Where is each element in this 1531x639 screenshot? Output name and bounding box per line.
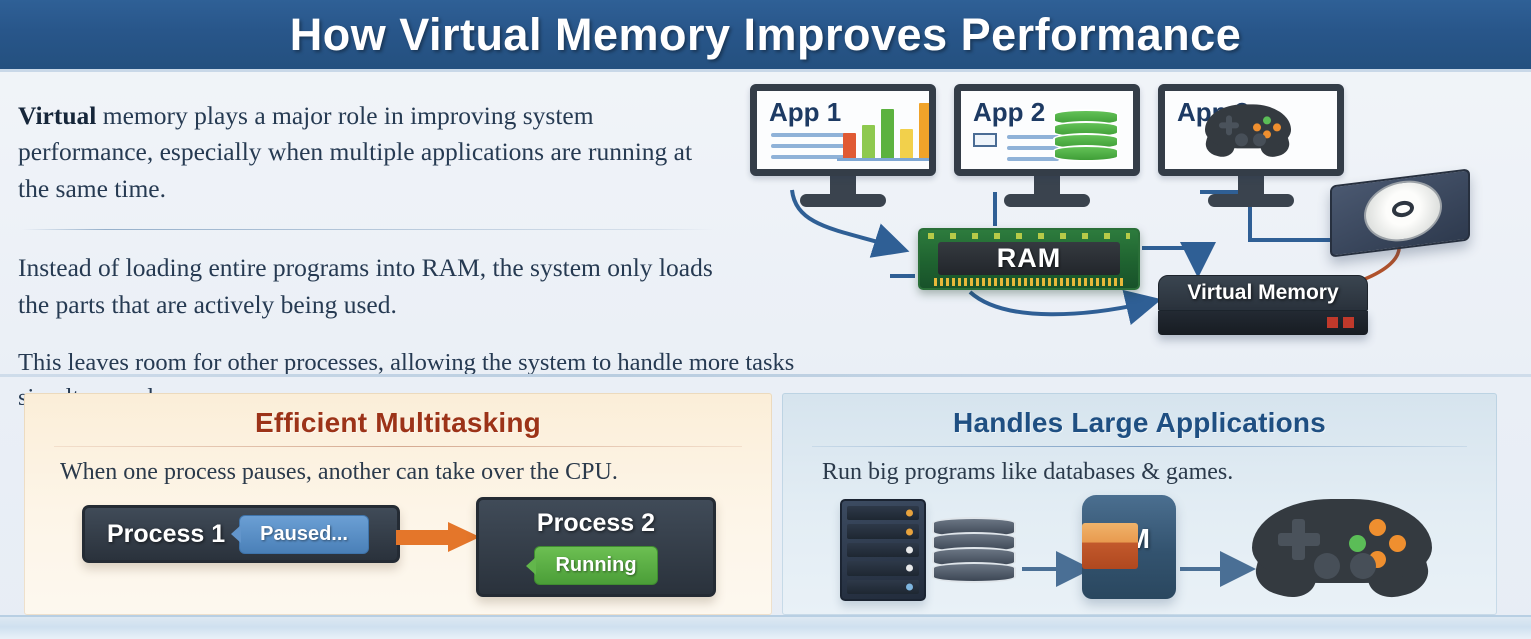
app-1-text-line <box>771 144 845 148</box>
app-1-monitor[interactable]: App 1 <box>750 84 936 207</box>
app-3-screen: App 3 <box>1158 84 1344 176</box>
monitor-stand-base <box>800 194 886 207</box>
infographic-page: How Virtual Memory Improves Performance … <box>0 0 1531 639</box>
monitor-stand-base <box>1208 194 1294 207</box>
benefit-cards: Efficient Multitasking When one process … <box>0 393 1531 615</box>
vm-container-icon[interactable]: VM <box>1082 495 1176 599</box>
document-icon-box <box>973 133 997 147</box>
ram-connector-pins <box>934 278 1124 286</box>
page-header: How Virtual Memory Improves Performance <box>0 0 1531 72</box>
intro-bold-word: Virtual <box>18 101 96 130</box>
process-2-status-badge: Running <box>534 546 657 585</box>
virtual-memory-body <box>1158 311 1368 335</box>
process-1-status-badge: Paused... <box>239 515 369 554</box>
server-rack-icon <box>840 499 926 601</box>
process-2-name: Process 2 <box>537 509 655 538</box>
process-1-name: Process 1 <box>107 520 225 549</box>
monitor-stand-neck <box>830 176 856 194</box>
cpu-handoff-arrow <box>396 524 488 550</box>
page-title: How Virtual Memory Improves Performance <box>290 9 1241 61</box>
card-handles-large-applications: Handles Large Applications Run big progr… <box>782 393 1497 615</box>
bar-chart-icon <box>843 93 936 159</box>
intro-paragraph-1-rest: memory plays a major role in improving s… <box>18 101 692 203</box>
process-1-box[interactable]: Process 1 Paused... <box>82 505 400 563</box>
app-3-monitor[interactable]: App 3 <box>1158 84 1344 207</box>
intro-paragraph-1: Virtual memory plays a major role in imp… <box>18 98 718 207</box>
ram-top-pins <box>928 233 1130 239</box>
ram-chip-bar: RAM <box>938 242 1120 275</box>
virtual-memory-lid: Virtual Memory <box>1158 275 1368 311</box>
app-2-screen: App 2 <box>954 84 1140 176</box>
intro-divider <box>22 229 714 230</box>
card-title-rule <box>812 446 1467 447</box>
monitor-stand-neck <box>1034 176 1060 194</box>
app-2-text-line <box>975 169 1075 173</box>
app-1-label: App 1 <box>769 97 841 128</box>
hard-disk-icon[interactable] <box>1330 165 1480 260</box>
process-flow: Process 1 Paused... Process 2 Running <box>24 497 772 609</box>
app-1-text-line <box>771 155 845 159</box>
status-led <box>1343 317 1354 328</box>
document-icon <box>973 133 999 163</box>
section-divider <box>0 374 1531 377</box>
card-subtitle-handles-large-applications: Run big programs like databases & games. <box>822 459 1497 486</box>
status-led <box>1327 317 1338 328</box>
database-icon <box>1053 109 1119 162</box>
gamepad-icon <box>1205 105 1291 149</box>
app-2-label: App 2 <box>973 97 1045 128</box>
process-2-box[interactable]: Process 2 Running <box>476 497 716 597</box>
card-efficient-multitasking: Efficient Multitasking When one process … <box>24 393 772 615</box>
page-footer <box>0 615 1531 639</box>
gamepad-icon <box>1252 499 1432 583</box>
monitor-stand-neck <box>1238 176 1264 194</box>
card-title-handles-large-applications: Handles Large Applications <box>782 407 1497 439</box>
virtual-memory-box[interactable]: Virtual Memory <box>1158 275 1368 337</box>
card-subtitle-efficient-multitasking: When one process pauses, another can tak… <box>60 459 772 486</box>
intro-paragraph-2: Instead of loading entire programs into … <box>18 250 718 323</box>
intro-text-column: Virtual memory plays a major role in imp… <box>18 98 718 415</box>
chart-baseline <box>837 158 933 161</box>
monitor-stand-base <box>1004 194 1090 207</box>
virtual-memory-label: Virtual Memory <box>1187 281 1338 305</box>
ram-module[interactable]: RAM <box>918 228 1140 290</box>
card-title-rule <box>54 446 742 447</box>
app-1-text-line <box>771 133 845 137</box>
app-2-monitor[interactable]: App 2 <box>954 84 1140 207</box>
database-stack-icon <box>932 517 1016 583</box>
intro-section: Virtual memory plays a major role in imp… <box>0 72 1531 375</box>
ram-label: RAM <box>997 243 1062 274</box>
app-1-screen: App 1 <box>750 84 936 176</box>
workload-cube-icon <box>1082 523 1138 569</box>
memory-flow-diagram: App 1 <box>730 80 1530 380</box>
large-apps-illustration: VM <box>782 493 1497 611</box>
card-title-efficient-multitasking: Efficient Multitasking <box>24 407 772 439</box>
app-2-text-line <box>1007 157 1059 161</box>
